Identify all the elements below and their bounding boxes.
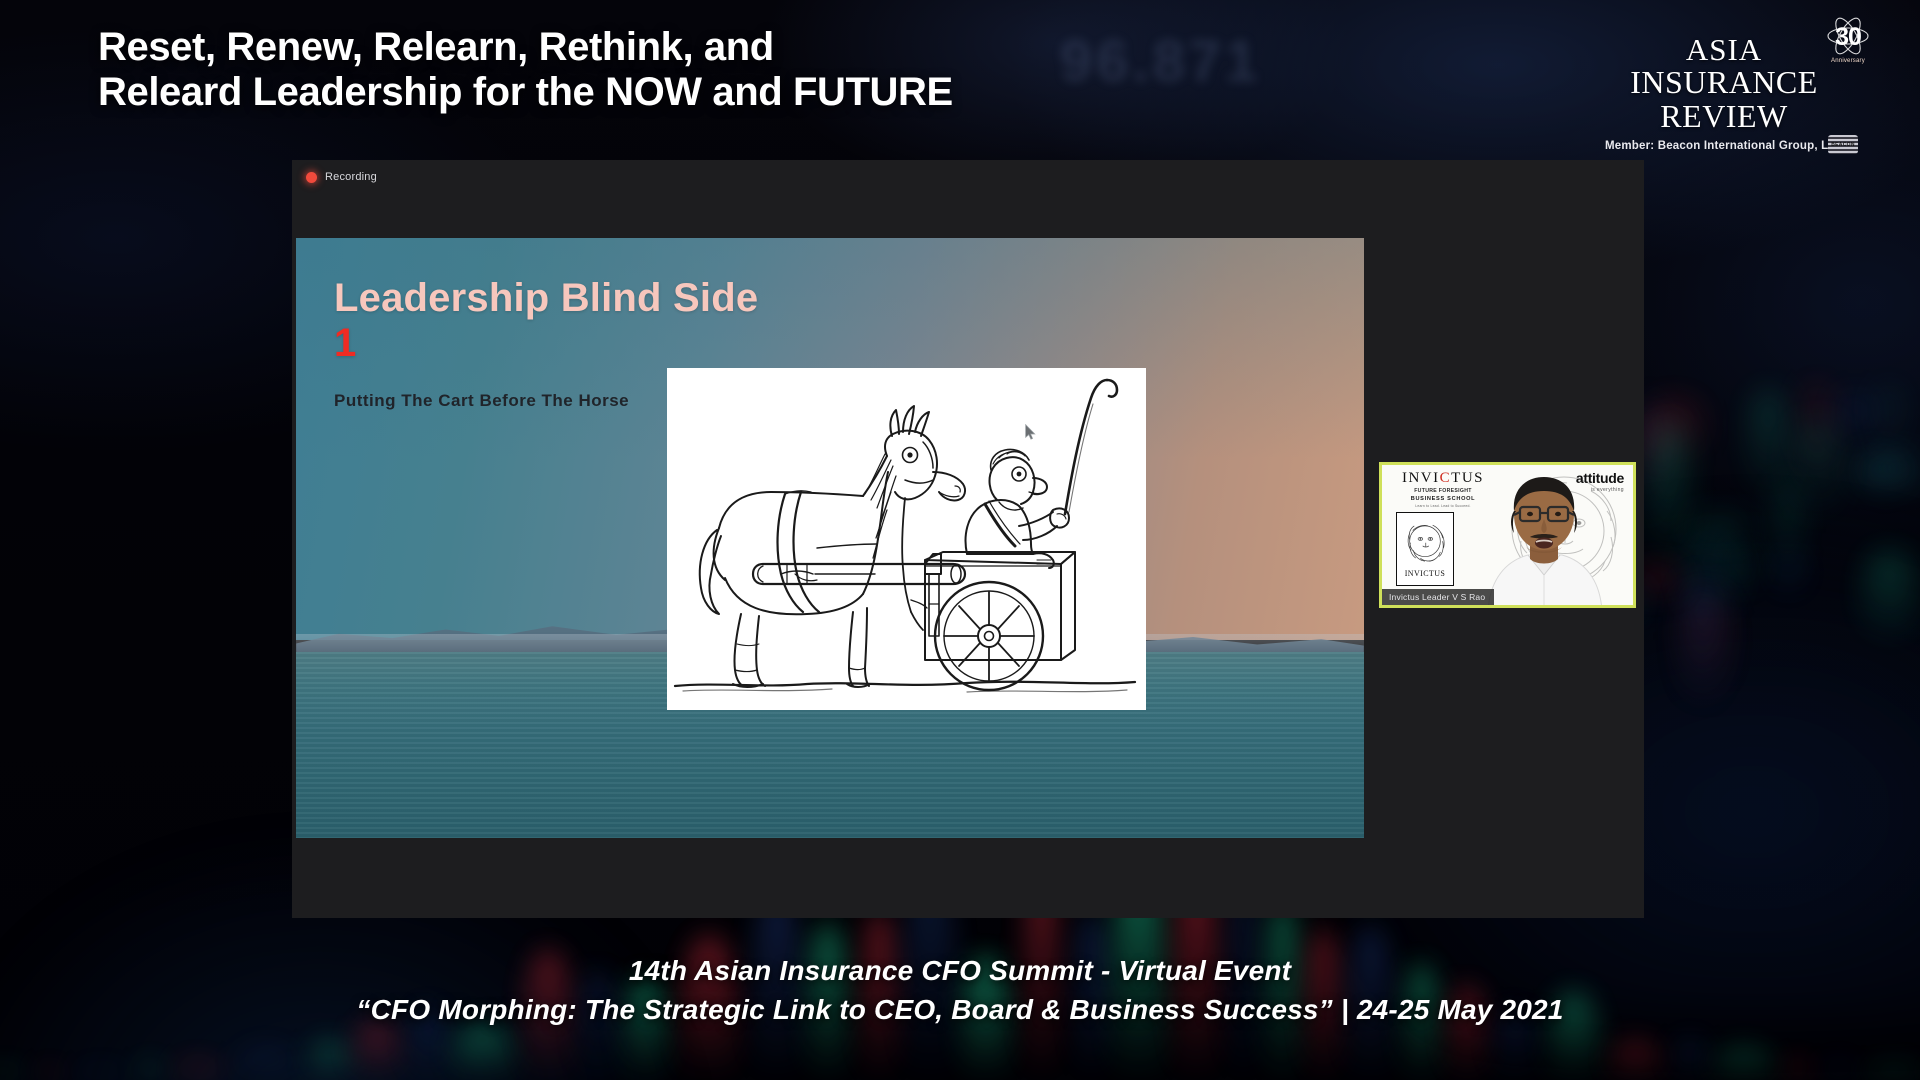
- invictus-card-label: INVICTUS: [1405, 569, 1446, 578]
- logo-member-line: Member: Beacon International Group, Ltd.: [1588, 140, 1860, 152]
- page-title: Reset, Renew, Relearn, Rethink, and Rele…: [98, 25, 1278, 115]
- anniversary-caption: Anniversary: [1820, 58, 1876, 64]
- logo-line-insurance-review: INSURANCE REVIEW: [1588, 66, 1860, 133]
- beacon-logo-icon: BEACON: [1828, 135, 1858, 154]
- participant-name-label: Invictus Leader V S Rao: [1382, 589, 1494, 605]
- event-footer-line1: 14th Asian Insurance CFO Summit - Virtua…: [0, 955, 1920, 987]
- video-feed: INVICTUS FUTURE FORESIGHT BUSINESS SCHOO…: [1382, 465, 1633, 605]
- event-footer-line2: “CFO Morphing: The Strategic Link to CEO…: [0, 994, 1920, 1026]
- shared-slide: Leadership Blind Side 1 Putting The Cart…: [296, 238, 1364, 838]
- recording-status: Recording: [306, 171, 377, 183]
- event-footer: 14th Asian Insurance CFO Summit - Virtua…: [0, 955, 1920, 1026]
- lion-card-icon: [1402, 516, 1448, 568]
- invictus-lion-card: INVICTUS: [1396, 512, 1454, 586]
- slide-title-text: Leadership Blind Side: [334, 276, 758, 320]
- participant-video-tile[interactable]: INVICTUS FUTURE FORESIGHT BUSINESS SCHOO…: [1379, 462, 1636, 608]
- mouse-cursor-icon: [1025, 424, 1036, 440]
- page-title-line2: Releard Leadership for the NOW and FUTUR…: [98, 70, 1278, 115]
- record-dot-icon: [306, 172, 317, 183]
- cartoon-image: [667, 368, 1146, 710]
- anniversary-badge-icon: 30 Anniversary: [1820, 12, 1876, 68]
- slide-title: Leadership Blind Side 1: [334, 276, 764, 366]
- screenshot-stage: 96.871 Reset, Renew, Relearn, Rethink, a…: [0, 0, 1920, 1080]
- slide-title-number: 1: [334, 321, 356, 365]
- recording-label: Recording: [325, 171, 377, 183]
- asia-insurance-review-logo: ASIA INSURANCE REVIEW Member: Beacon Int…: [1588, 34, 1860, 152]
- slide-subtitle: Putting The Cart Before The Horse: [334, 391, 629, 411]
- participant-webcam-image: [1470, 471, 1618, 608]
- page-title-line1: Reset, Renew, Relearn, Rethink, and: [98, 25, 774, 69]
